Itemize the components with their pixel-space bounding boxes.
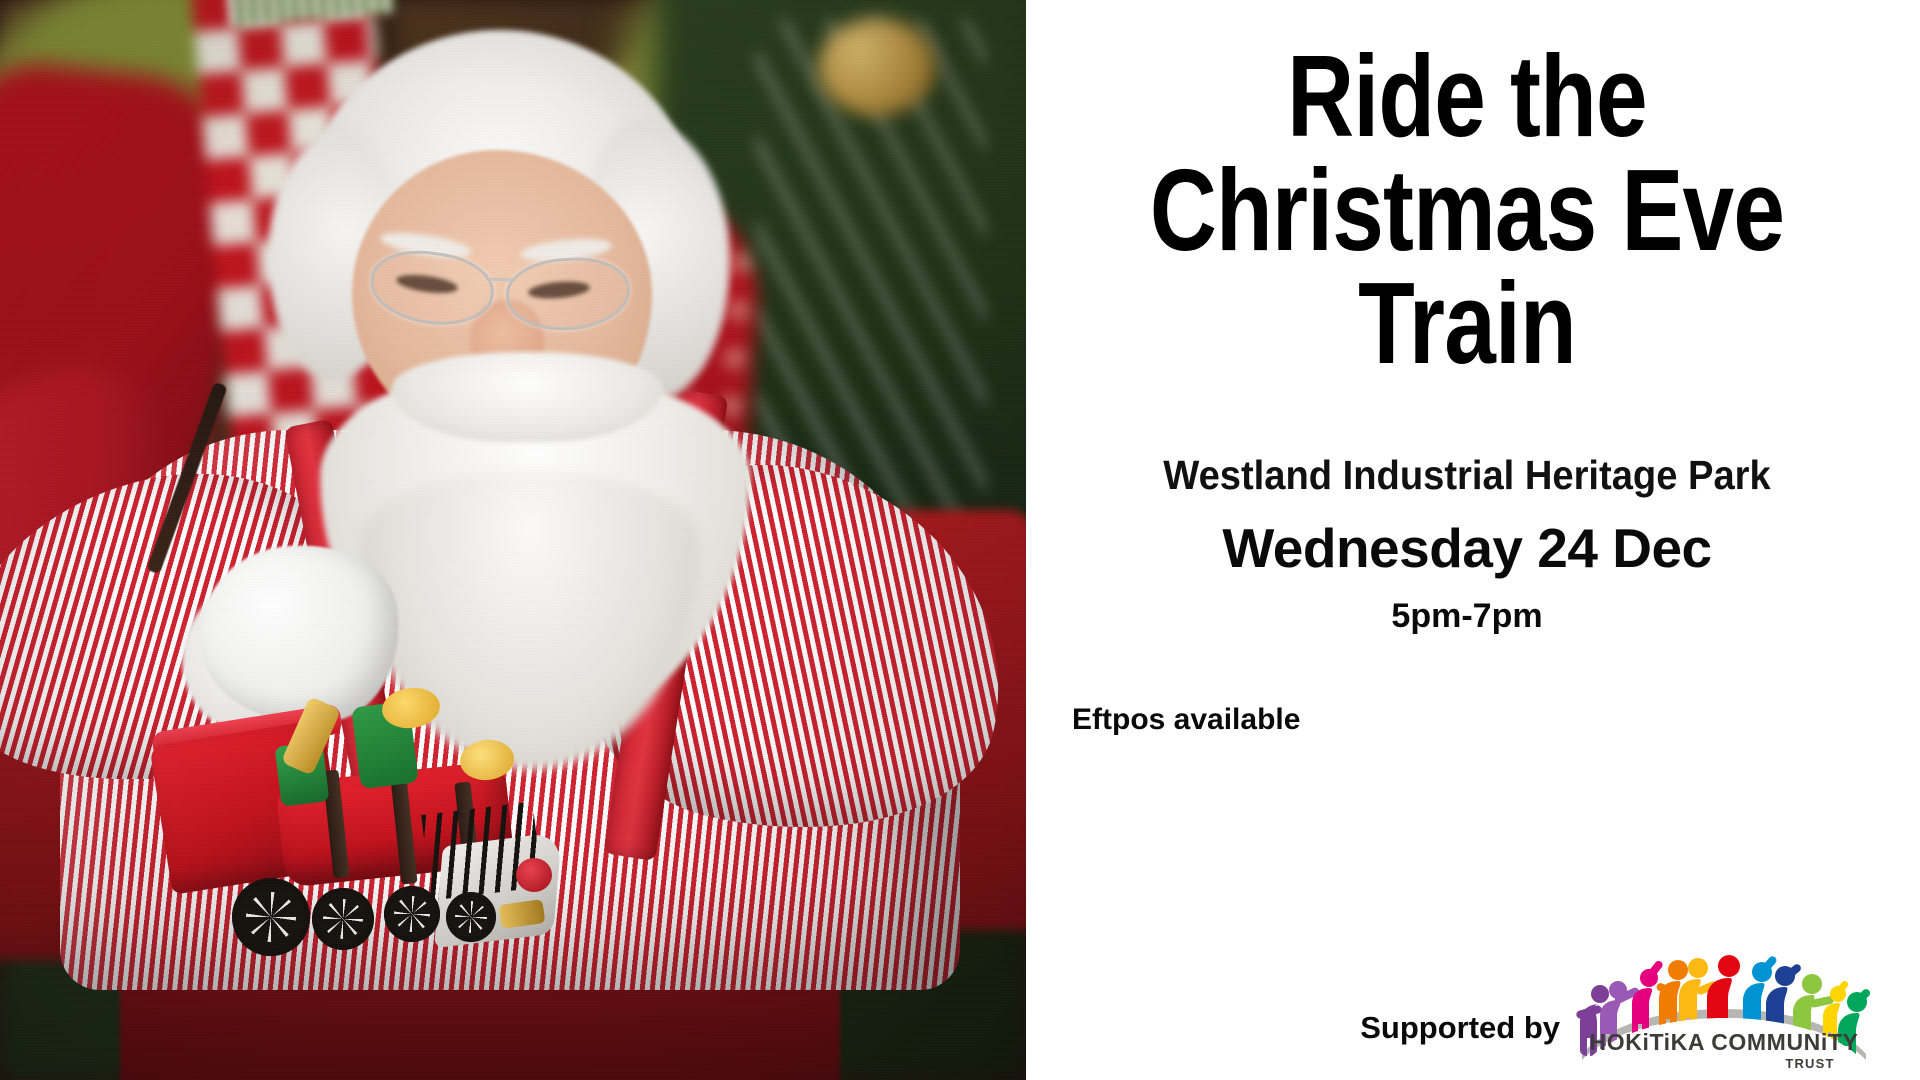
santa-photo [0,0,1026,1080]
train-wheel-spokes [323,899,363,939]
toy-train [160,690,590,960]
eftpos-note: Eftpos available [1072,703,1874,737]
santa-moustache [392,352,662,442]
train-wheel-spokes [246,892,296,942]
train-wheel-spokes [394,896,430,932]
sponsor-row: Supported by [1060,942,1874,1072]
poster-text-panel: Ride the Christmas Eve Train Westland In… [1026,0,1920,1080]
date-text: Wednesday 24 Dec [1060,520,1874,578]
time-text: 5pm-7pm [1060,598,1874,635]
poster-root: Ride the Christmas Eve Train Westland In… [0,0,1920,1080]
logo-line2: TRUST [1785,1056,1834,1071]
train-wheel [446,892,496,942]
santa-figure [0,0,1026,1080]
logo-line1: HOKiTiKA COMMUNiTY [1590,1029,1859,1055]
train-wheel [384,886,440,942]
hokitika-community-trust-logo: HOKiTiKA COMMUNiTY TRUST [1574,942,1874,1072]
supported-by-label: Supported by [1360,1010,1560,1072]
venue-text: Westland Industrial Heritage Park [1088,453,1845,498]
poster-headline: Ride the Christmas Eve Train [1141,40,1792,381]
train-front-buffer [516,858,552,892]
train-wheel-spokes [455,901,487,933]
train-wheel [232,878,310,956]
hokitika-community-trust-logo-icon: HOKiTiKA COMMUNiTY TRUST [1574,942,1874,1072]
train-wheel [312,888,374,950]
